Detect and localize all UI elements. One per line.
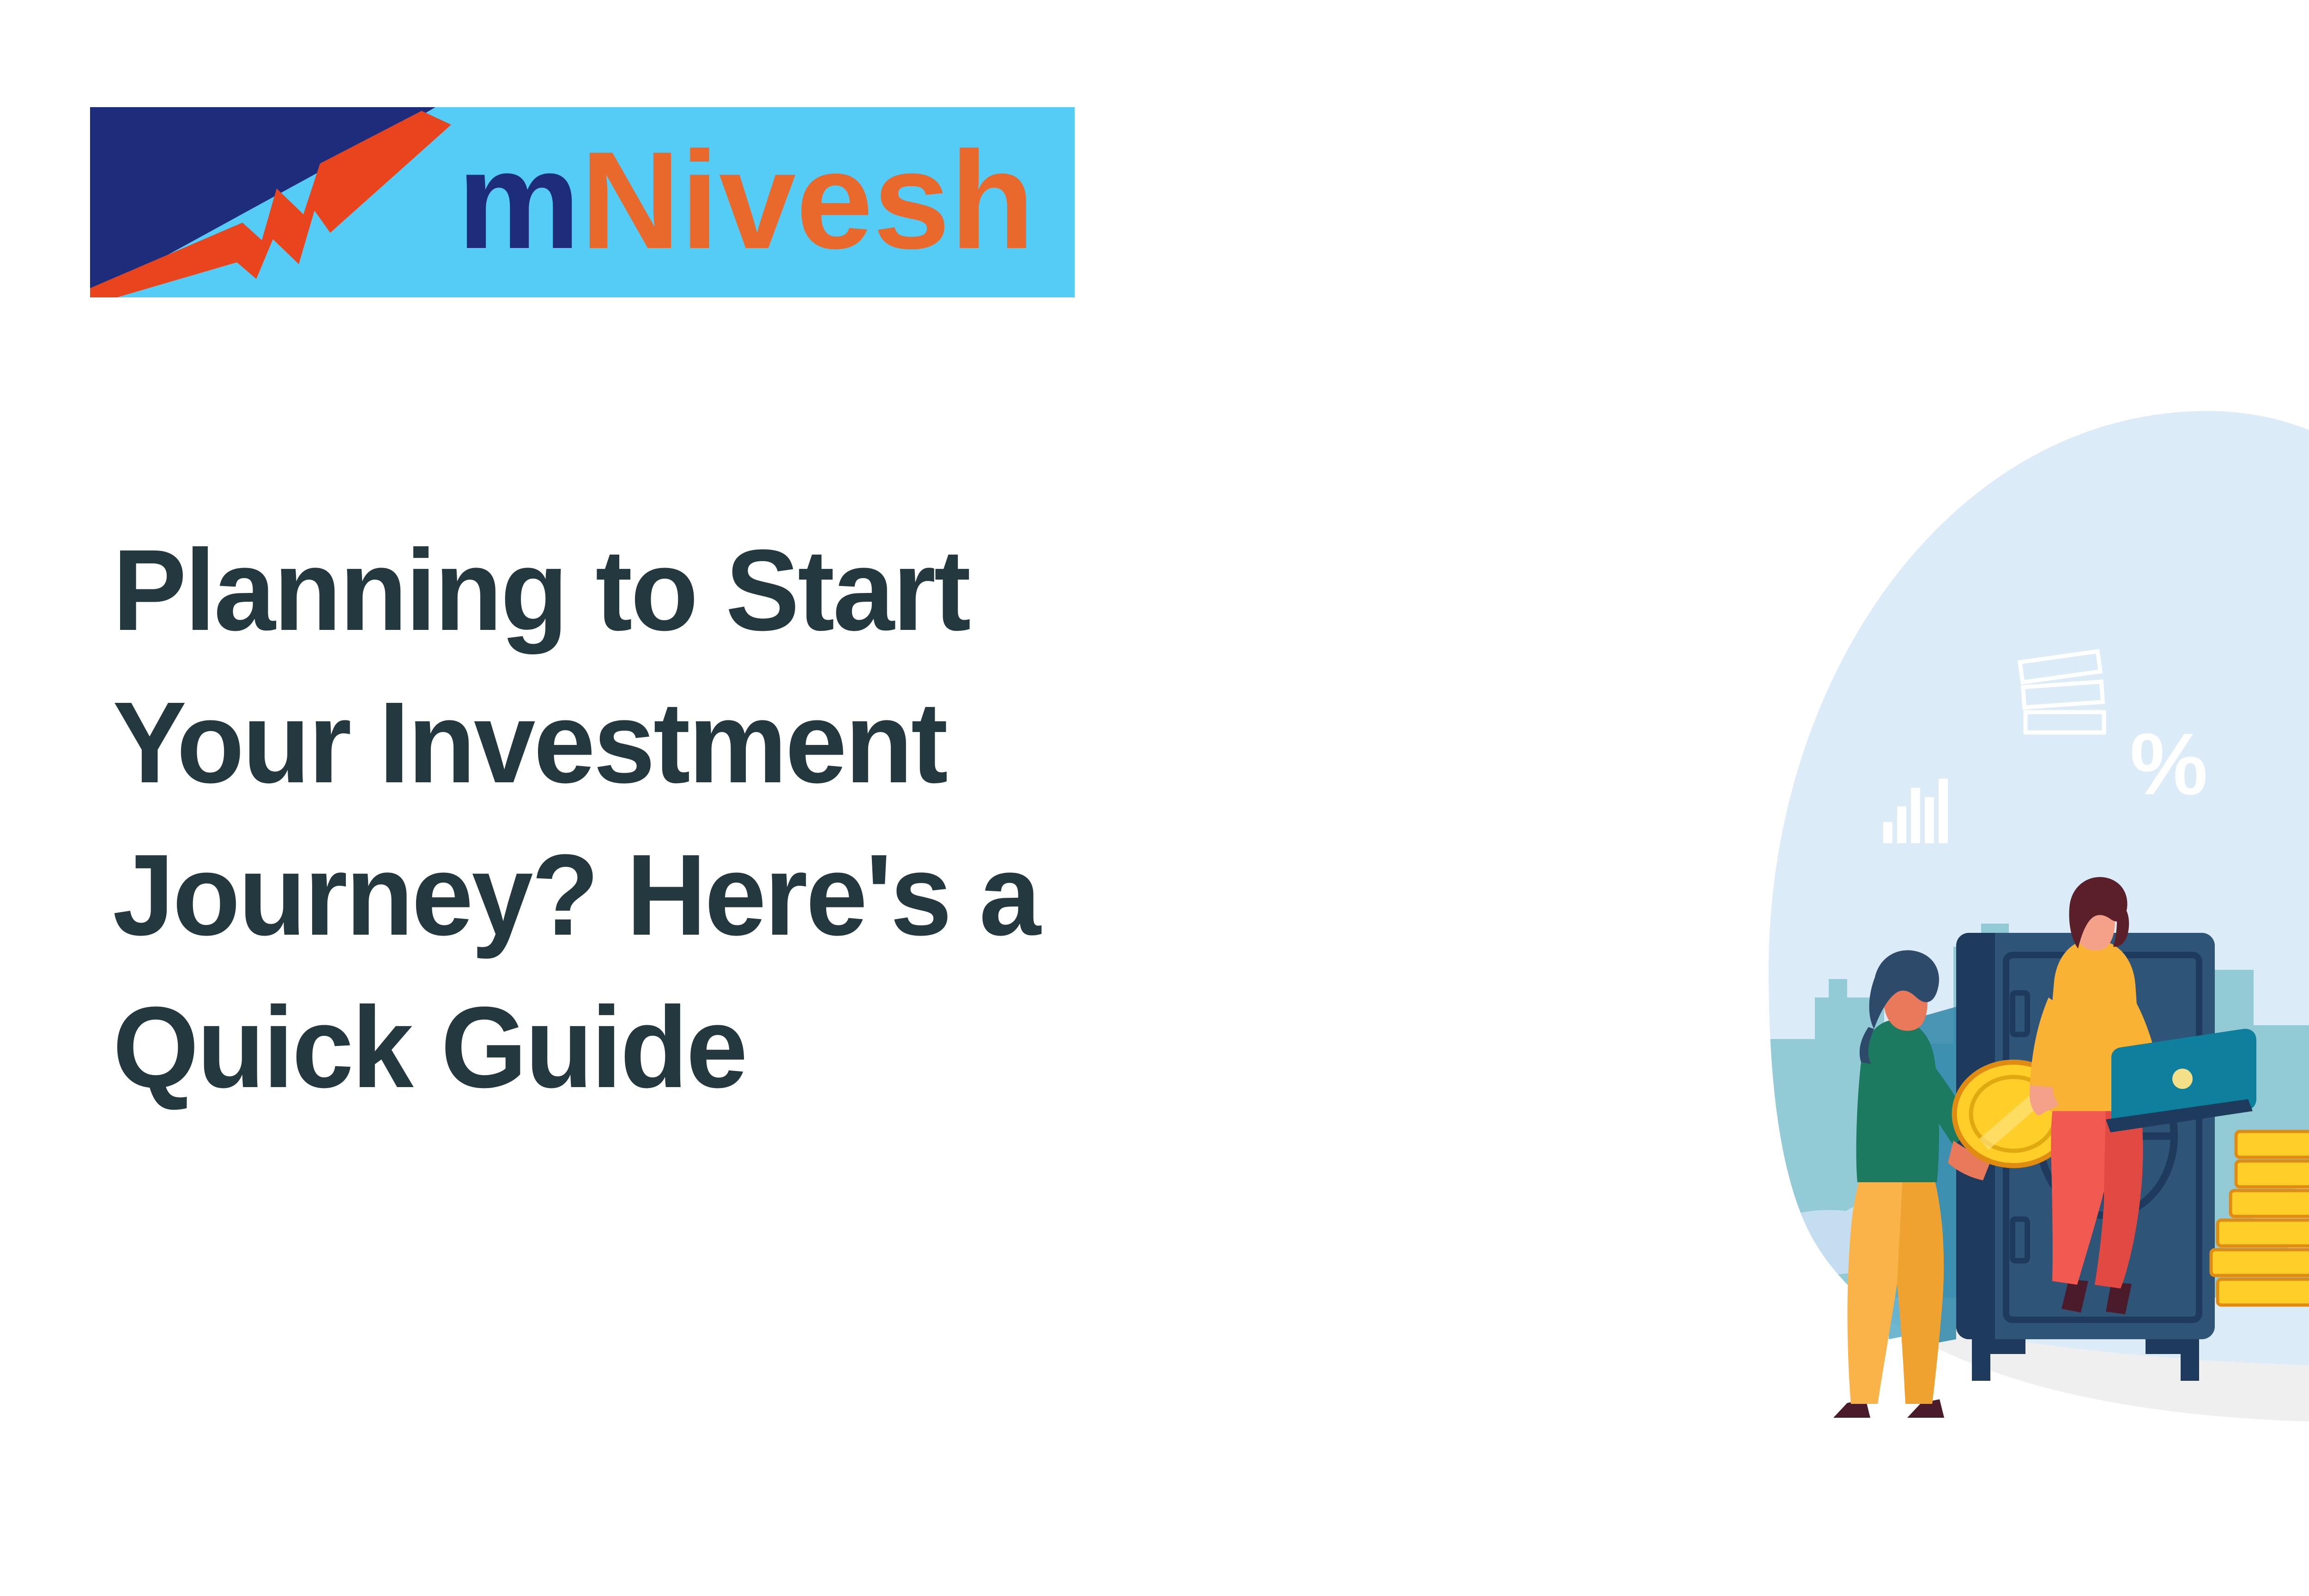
headline-line-3: Journey? Here's a: [113, 819, 1584, 971]
brand-logo[interactable]: mNivesh: [90, 107, 1075, 297]
logo-wordmark: mNivesh: [457, 122, 1035, 278]
headline-line-2: Your Investment: [113, 666, 1584, 819]
banner-canvas: mNivesh Planning to Start Your Investmen…: [0, 0, 2309, 1596]
investment-illustration: % $ $: [1630, 259, 2309, 1441]
headline-line-4: Quick Guide: [113, 971, 1584, 1124]
percent-symbol: %: [2130, 715, 2208, 813]
logo-text-m: m: [457, 122, 580, 278]
page-title: Planning to Start Your Investment Journe…: [113, 514, 1584, 1124]
headline-line-1: Planning to Start: [113, 514, 1584, 666]
logo-text-nivesh: Nivesh: [580, 122, 1035, 278]
